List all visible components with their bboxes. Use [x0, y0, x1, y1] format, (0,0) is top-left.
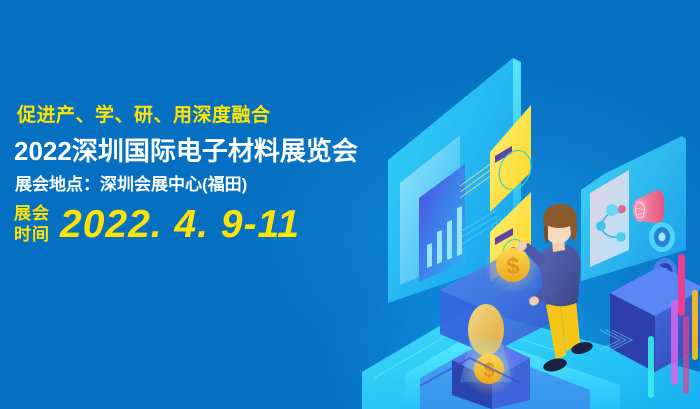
- venue-line: 展会地点：深圳会展中心(福田): [15, 176, 247, 195]
- gold-coin-upper: $: [484, 236, 542, 294]
- page-title: 2022深圳国际电子材料展览会: [14, 137, 358, 166]
- gold-coin-lower: $: [462, 342, 516, 396]
- tagline: 促进产、学、研、用深度融合: [17, 106, 271, 125]
- date-group: 展会 时间 2022. 4. 9-11: [14, 204, 300, 245]
- exhibition-banner: $ $: [0, 0, 700, 409]
- cyan-gear-component: [649, 222, 675, 252]
- date-value: 2022. 4. 9-11: [60, 205, 300, 244]
- svg-text:$: $: [507, 253, 520, 279]
- svg-text:$: $: [483, 360, 494, 382]
- date-label-line2: 时间: [14, 225, 50, 246]
- date-label: 展会 时间: [14, 204, 50, 245]
- text-block: 促进产、学、研、用深度融合 2022深圳国际电子材料展览会 展会地点：深圳会展中…: [0, 0, 340, 409]
- date-label-line1: 展会: [14, 204, 50, 225]
